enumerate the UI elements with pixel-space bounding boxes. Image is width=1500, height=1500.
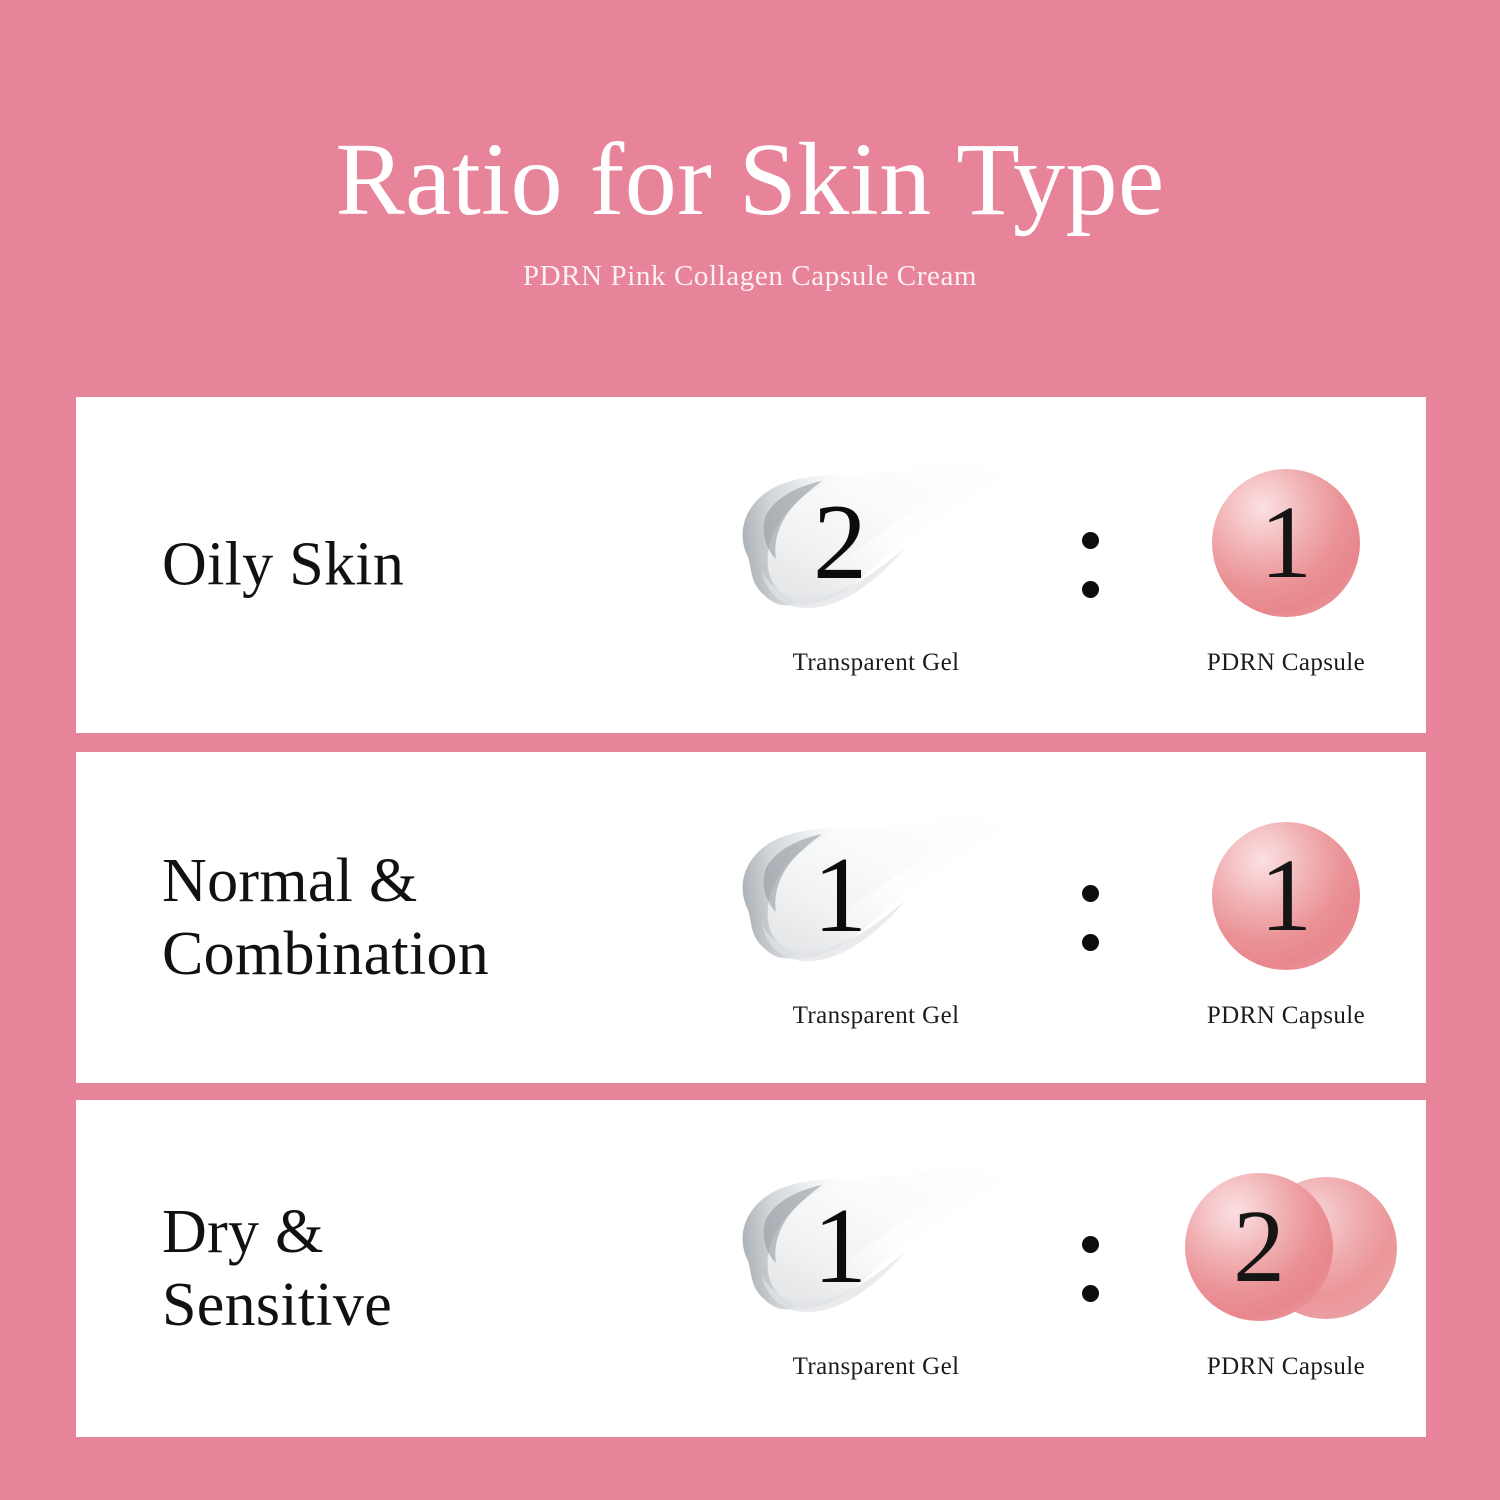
capsule-block: 2 PDRN Capsule — [1141, 1157, 1431, 1381]
colon-dot-top — [1082, 1236, 1099, 1253]
colon-dot-bottom — [1082, 581, 1099, 598]
gel-caption: Transparent Gel — [676, 649, 1076, 677]
gel-amount: 1 — [706, 806, 1046, 986]
capsule-group: 1 — [1141, 806, 1431, 986]
ratio-rows: Oily Skin — [76, 397, 1426, 1437]
ratio-separator — [1081, 532, 1099, 598]
capsule-caption: PDRN Capsule — [1141, 1353, 1431, 1381]
gel-caption: Transparent Gel — [676, 1002, 1076, 1030]
skin-type-label: Dry & Sensitive — [162, 1195, 392, 1341]
gel-swatch: 2 — [706, 453, 1046, 633]
ratio-row-normal-combination: Normal & Combination 1 Transparent Gel — [76, 752, 1426, 1083]
ratio-separator — [1081, 1236, 1099, 1302]
ratio-separator — [1081, 885, 1099, 951]
page-subtitle: PDRN Pink Collagen Capsule Cream — [0, 232, 1500, 293]
capsule-amount: 1 — [1212, 469, 1360, 617]
skin-type-label: Normal & Combination — [162, 844, 489, 990]
gel-block: 1 Transparent Gel — [676, 1157, 1076, 1381]
ratio-row-dry-sensitive: Dry & Sensitive 1 Transparent Gel — [76, 1100, 1426, 1437]
gel-caption: Transparent Gel — [676, 1353, 1076, 1381]
ratio-row-oily-skin: Oily Skin — [76, 397, 1426, 733]
gel-swatch: 1 — [706, 806, 1046, 986]
capsule-amount: 2 — [1185, 1173, 1333, 1321]
page-title: Ratio for Skin Type — [0, 0, 1500, 232]
gel-swatch: 1 — [706, 1157, 1046, 1337]
colon-dot-bottom — [1082, 934, 1099, 951]
colon-dot-bottom — [1082, 1285, 1099, 1302]
capsule-group: 1 — [1141, 453, 1431, 633]
colon-dot-top — [1082, 532, 1099, 549]
capsule-amount: 1 — [1212, 822, 1360, 970]
gel-amount: 2 — [706, 453, 1046, 633]
capsule-block: 1 PDRN Capsule — [1141, 806, 1431, 1030]
skin-type-label: Oily Skin — [162, 528, 404, 601]
infographic-page: Ratio for Skin Type PDRN Pink Collagen C… — [0, 0, 1500, 1500]
capsule-group: 2 — [1141, 1157, 1431, 1337]
header: Ratio for Skin Type PDRN Pink Collagen C… — [0, 0, 1500, 293]
colon-dot-top — [1082, 885, 1099, 902]
gel-block: 2 Transparent Gel — [676, 453, 1076, 677]
capsule-caption: PDRN Capsule — [1141, 649, 1431, 677]
capsule-caption: PDRN Capsule — [1141, 1002, 1431, 1030]
gel-amount: 1 — [706, 1157, 1046, 1337]
gel-block: 1 Transparent Gel — [676, 806, 1076, 1030]
capsule-block: 1 PDRN Capsule — [1141, 453, 1431, 677]
